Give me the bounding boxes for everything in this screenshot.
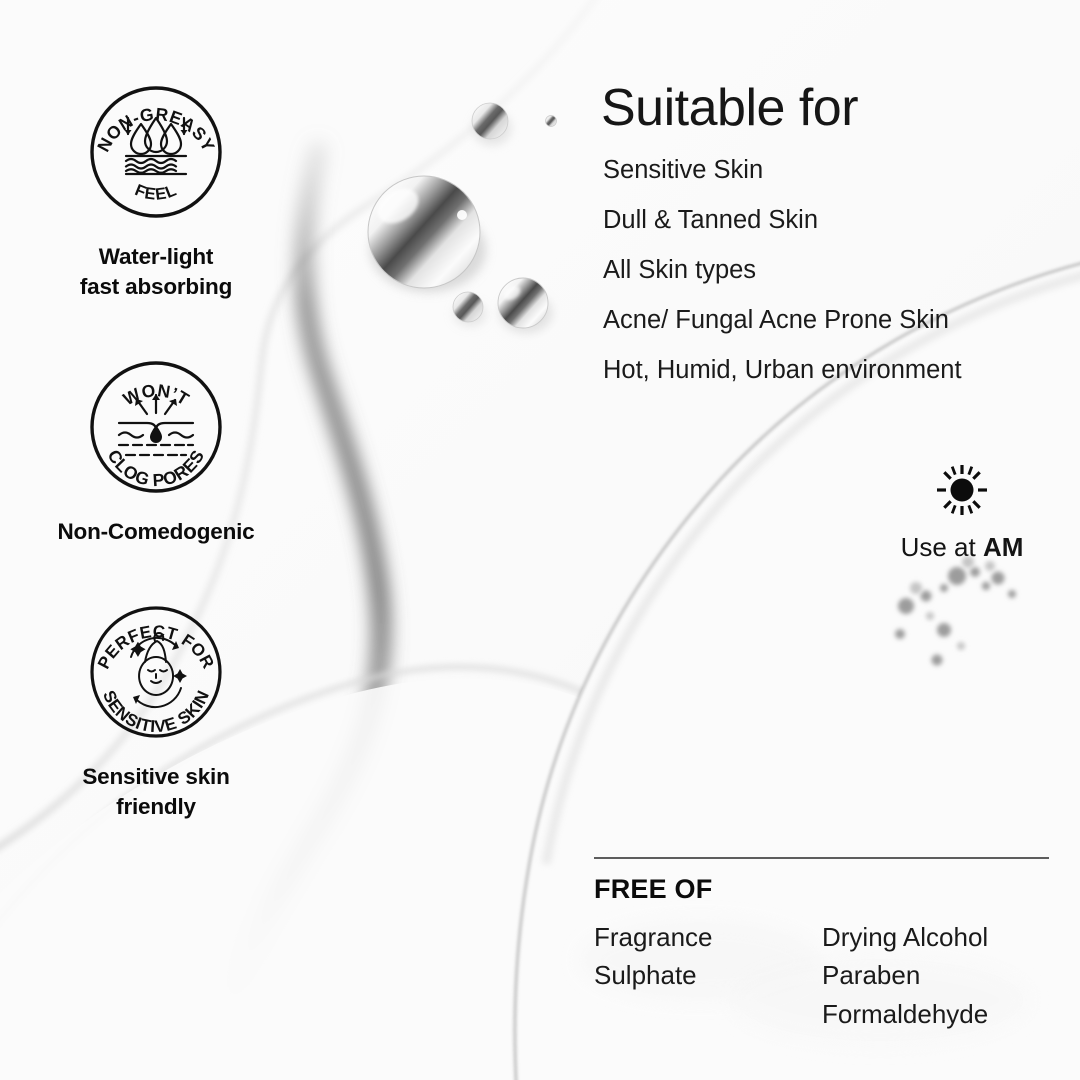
suitable-item: Acne/ Fungal Acne Prone Skin (603, 308, 1073, 334)
svg-text:FEEL: FEEL (132, 181, 180, 204)
free-of-item: Sulphate (594, 956, 822, 994)
free-of-heading: FREE OF (594, 874, 1049, 905)
badge-caption: Non-Comedogenic (0, 517, 312, 547)
usage-time-label: Use at AM (862, 532, 1062, 563)
badge-non-greasy-feel: NON-GREASY FEEL (0, 80, 312, 301)
usage-time-value: AM (983, 532, 1023, 562)
free-of-section: FREE OF Fragrance Sulphate Drying Alcoho… (594, 857, 1049, 1033)
svg-text:CLOG PORES: CLOG PORES (104, 446, 209, 490)
svg-text:PERFECT FOR: PERFECT FOR (94, 622, 218, 672)
feature-badge-column: NON-GREASY FEEL (0, 0, 312, 1080)
usage-prefix: Use at (901, 532, 983, 562)
free-of-item: Fragrance (594, 918, 822, 956)
free-of-columns: Fragrance Sulphate Drying Alcohol Parabe… (594, 918, 1049, 1033)
svg-text:NON-GREASY: NON-GREASY (93, 104, 219, 155)
free-of-item: Paraben (822, 956, 988, 994)
perfect-for-sensitive-skin-seal: PERFECT FOR SENSITIVE SKIN (81, 600, 231, 750)
badge-perfect-for-sensitive-skin: PERFECT FOR SENSITIVE SKIN (0, 600, 312, 821)
suitable-item: Dull & Tanned Skin (603, 208, 1073, 234)
suitable-for-list: Sensitive Skin Dull & Tanned Skin All Sk… (603, 158, 1073, 408)
free-of-column-right: Drying Alcohol Paraben Formaldehyde (822, 918, 988, 1033)
free-of-item: Formaldehyde (822, 995, 988, 1033)
suitable-item: Sensitive Skin (603, 158, 1073, 184)
badge-caption: Water-light fast absorbing (0, 242, 312, 301)
sun-icon (934, 462, 990, 518)
product-feature-poster: NON-GREASY FEEL (0, 0, 1080, 1080)
suitable-item: Hot, Humid, Urban environment (603, 358, 1073, 384)
suitable-for-heading: Suitable for (601, 78, 858, 138)
non-greasy-feel-seal: NON-GREASY FEEL (81, 80, 231, 230)
free-of-item: Drying Alcohol (822, 918, 988, 956)
badge-wont-clog-pores: WON’T CLOG PORES (0, 355, 312, 547)
wont-clog-pores-seal: WON’T CLOG PORES (81, 355, 231, 505)
suitable-item: All Skin types (603, 258, 1073, 284)
free-of-divider (594, 857, 1049, 859)
free-of-column-left: Fragrance Sulphate (594, 918, 822, 1033)
usage-time-block: Use at AM (862, 462, 1062, 563)
badge-caption: Sensitive skin friendly (0, 762, 312, 821)
